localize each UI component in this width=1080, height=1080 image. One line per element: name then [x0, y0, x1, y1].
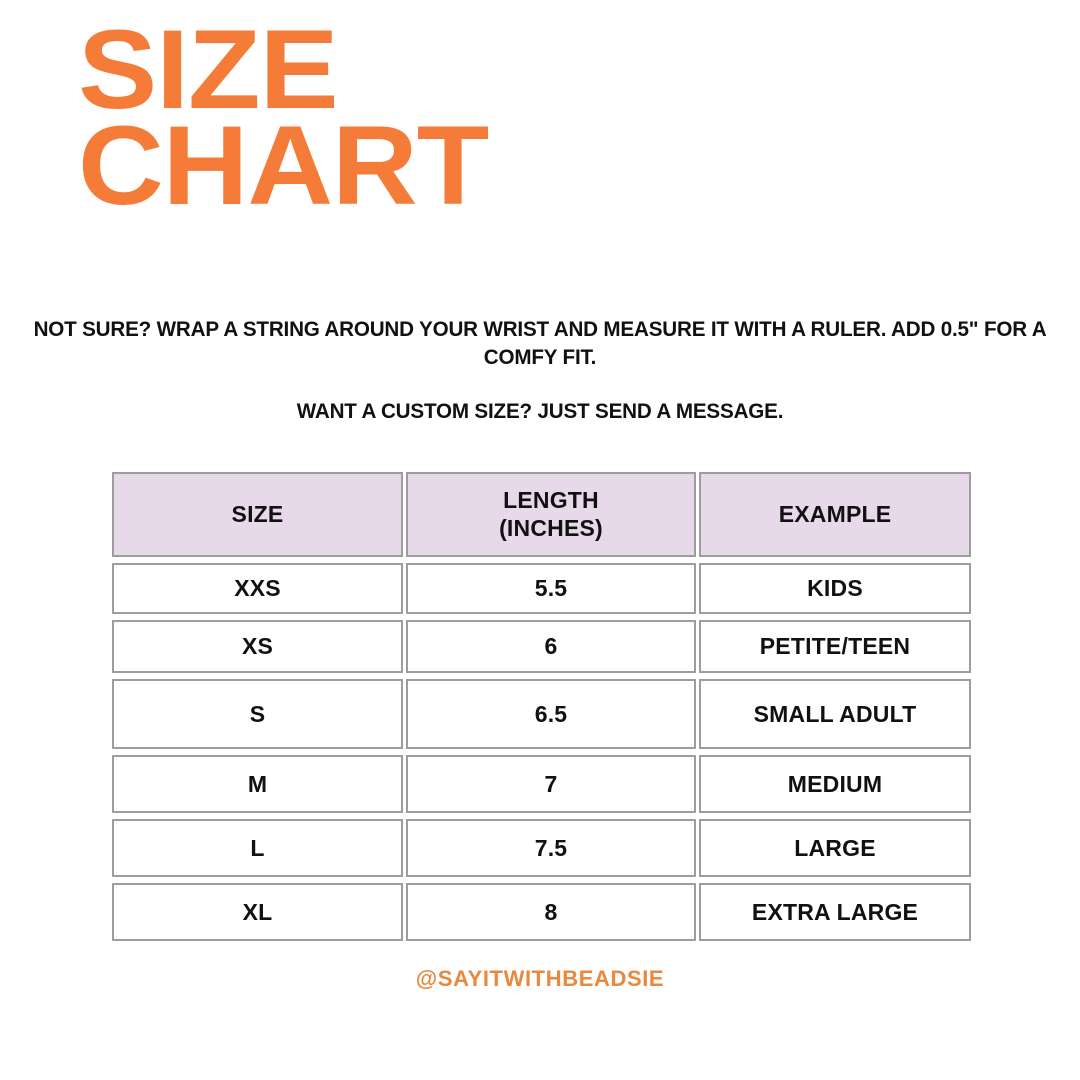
cell-example: MEDIUM — [699, 755, 971, 813]
cell-length: 6 — [406, 620, 696, 673]
page-title: SIZE CHART — [78, 22, 598, 215]
size-chart-table: SIZE LENGTH (INCHES) EXAMPLE XXS 5.5 KID… — [112, 472, 972, 947]
cell-size: S — [112, 679, 403, 749]
cell-length: 8 — [406, 883, 696, 941]
table-row: S 6.5 SMALL ADULT — [112, 679, 972, 749]
cell-size: XS — [112, 620, 403, 673]
cell-example: SMALL ADULT — [699, 679, 971, 749]
table-row: M 7 MEDIUM — [112, 755, 972, 813]
table-row: XS 6 PETITE/TEEN — [112, 620, 972, 673]
cell-example: KIDS — [699, 563, 971, 614]
table-header-row: SIZE LENGTH (INCHES) EXAMPLE — [112, 472, 972, 557]
page-title-line-2: CHART — [78, 118, 629, 214]
cell-size: XL — [112, 883, 403, 941]
custom-size-note: WANT A CUSTOM SIZE? JUST SEND A MESSAGE. — [22, 398, 1059, 426]
cell-length: 5.5 — [406, 563, 696, 614]
column-header-length-line1: LENGTH — [499, 487, 603, 515]
cell-size: XXS — [112, 563, 403, 614]
cell-length: 6.5 — [406, 679, 696, 749]
table-row: XXS 5.5 KIDS — [112, 563, 972, 614]
column-header-length: LENGTH (INCHES) — [406, 472, 696, 557]
table-row: XL 8 EXTRA LARGE — [112, 883, 972, 941]
cell-size: M — [112, 755, 403, 813]
column-header-size: SIZE — [112, 472, 403, 557]
cell-size: L — [112, 819, 403, 877]
cell-example: LARGE — [699, 819, 971, 877]
cell-example: PETITE/TEEN — [699, 620, 971, 673]
measuring-instructions: NOT SURE? WRAP A STRING AROUND YOUR WRIS… — [22, 316, 1059, 372]
column-header-length-line2: (INCHES) — [499, 515, 603, 543]
table-row: L 7.5 LARGE — [112, 819, 972, 877]
cell-length: 7 — [406, 755, 696, 813]
column-header-example: EXAMPLE — [699, 472, 971, 557]
cell-length: 7.5 — [406, 819, 696, 877]
cell-example: EXTRA LARGE — [699, 883, 971, 941]
social-handle: @SAYITWITHBEADSIE — [0, 966, 1080, 992]
